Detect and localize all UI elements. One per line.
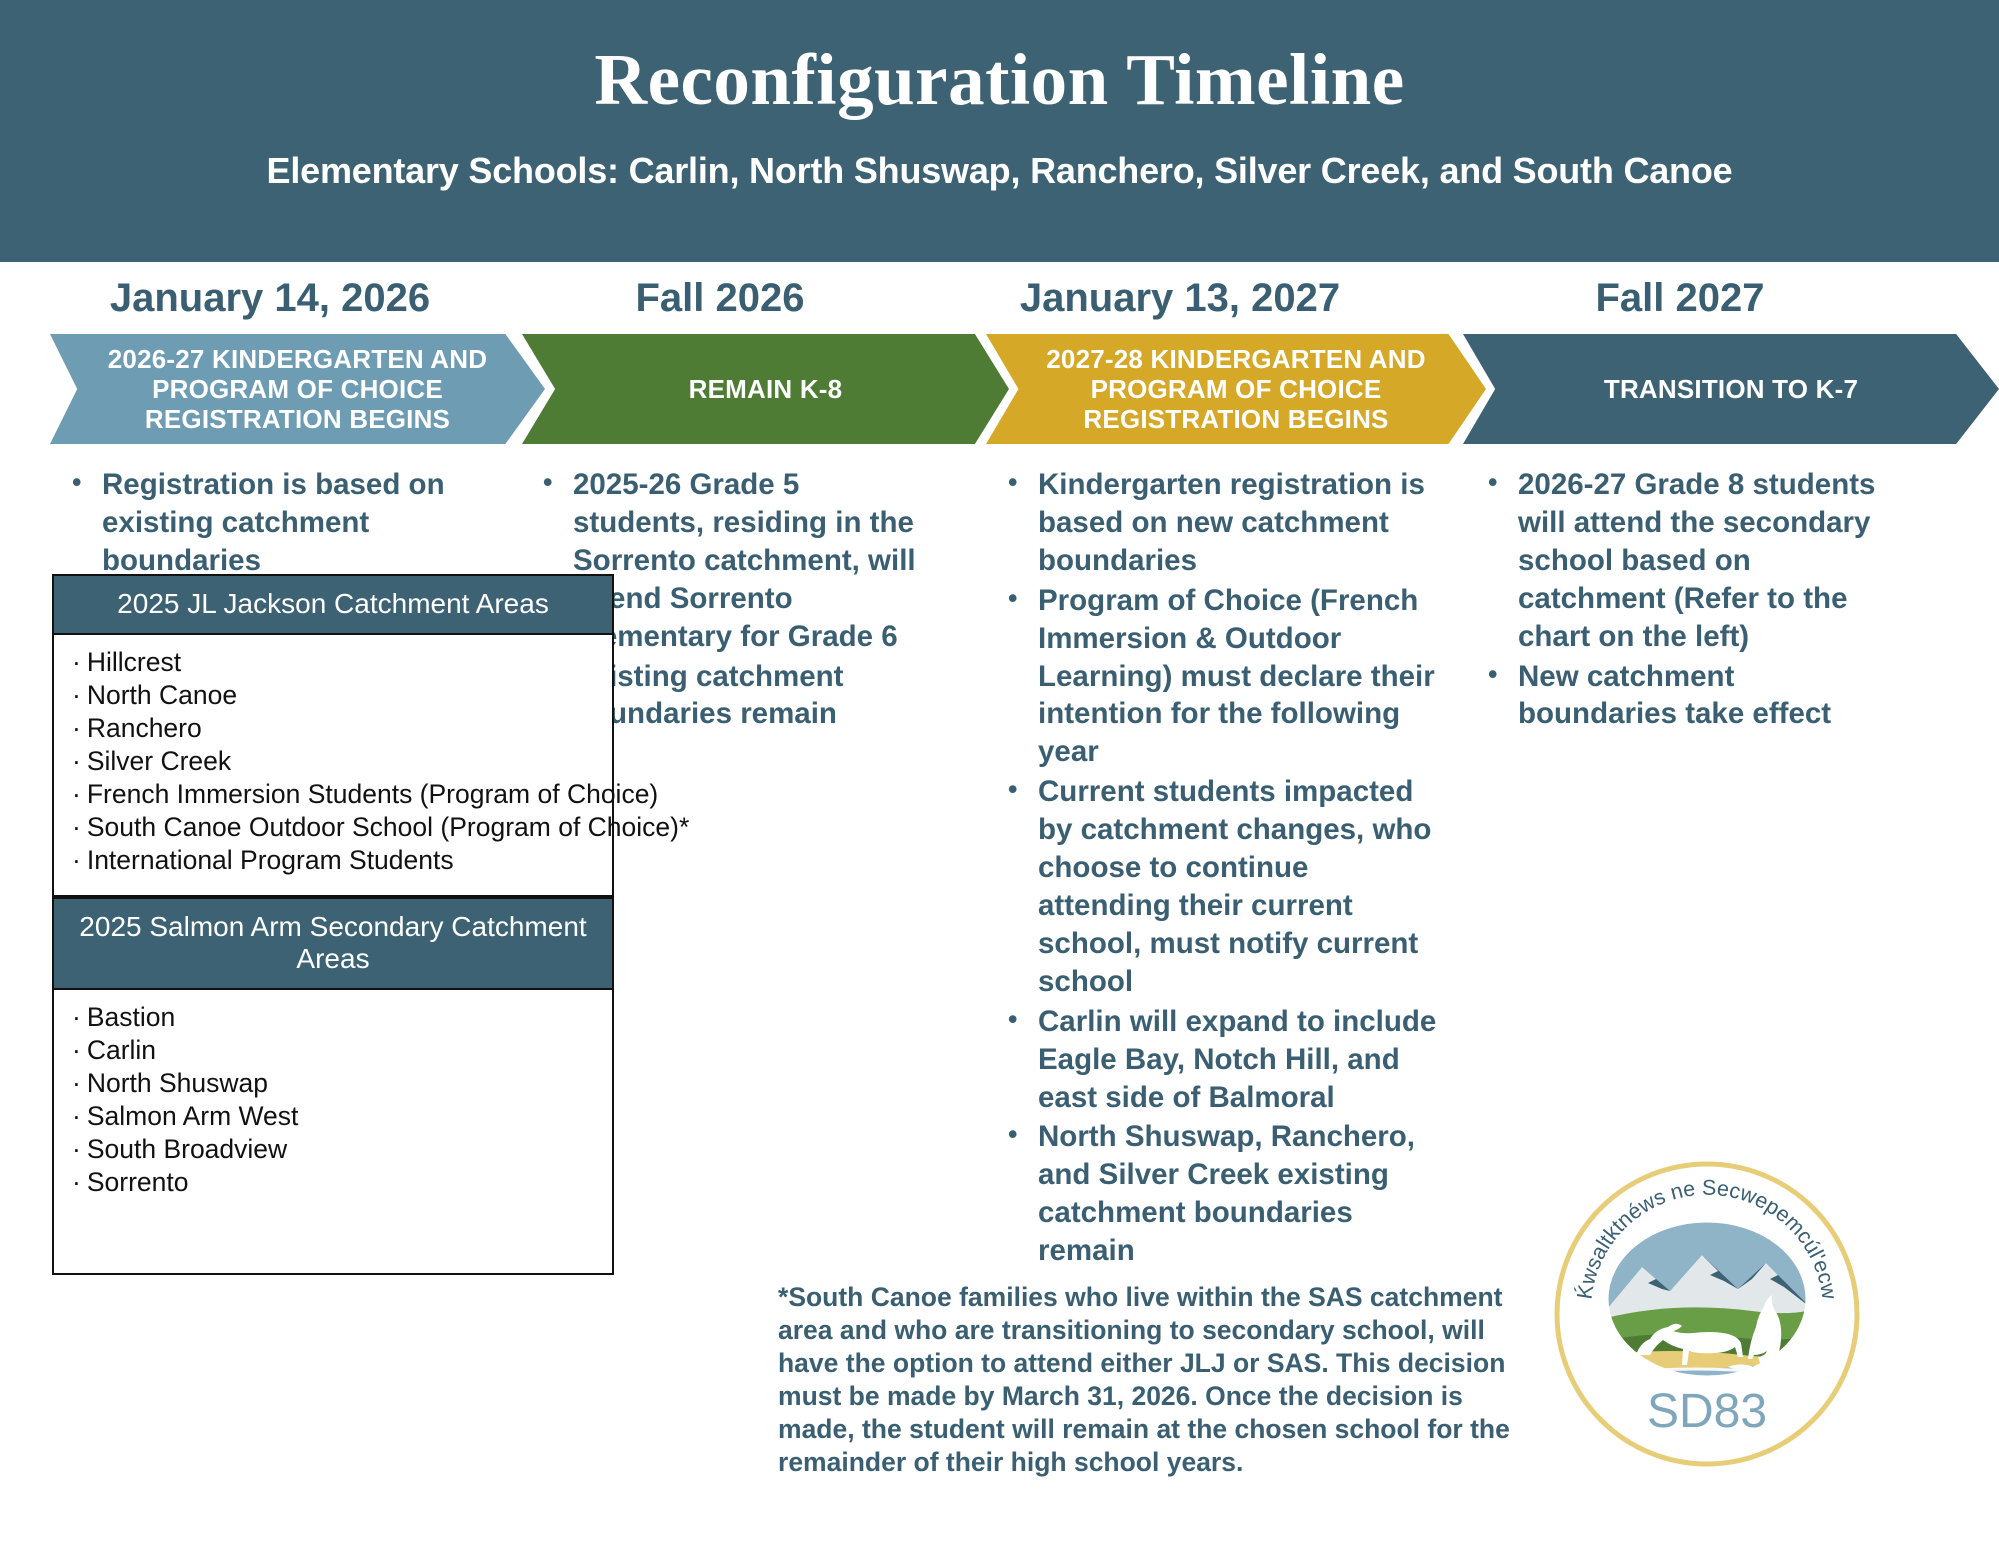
bullet-list-4: 2026-27 Grade 8 students will attend the… xyxy=(1480,466,1900,733)
timeline-chevron-4-label: TRANSITION TO K-7 xyxy=(1578,374,1884,404)
infographic-page: Reconfiguration Timeline Elementary Scho… xyxy=(0,0,1999,1545)
logo-acronym: SD83 xyxy=(1647,1385,1767,1438)
bullet-column-3: Kindergarten registration is based on ne… xyxy=(1000,466,1440,1272)
catchment-list-2: ·Bastion ·Carlin ·North Shuswap ·Salmon … xyxy=(54,1001,612,1199)
timeline-date-3: January 13, 2027 xyxy=(960,276,1400,321)
bullet-dot-icon: · xyxy=(72,746,81,776)
catchment-area-label: Silver Creek xyxy=(87,746,231,776)
catchment-area-label: Bastion xyxy=(87,1002,175,1032)
bullet-list-3: Kindergarten registration is based on ne… xyxy=(1000,466,1440,1270)
list-item: ·Carlin xyxy=(54,1034,612,1067)
bullet-dot-icon: · xyxy=(72,1002,81,1032)
page-title: Reconfiguration Timeline xyxy=(0,38,1999,122)
timeline-chevron-3-label: 2027-28 KINDERGARTEN AND PROGRAM OF CHOI… xyxy=(986,344,1486,434)
bullet-dot-icon: · xyxy=(72,680,81,710)
list-item: New catchment boundaries take effect xyxy=(1480,658,1900,734)
bullet-column-1: Registration is based on existing catchm… xyxy=(64,466,464,582)
list-item: Carlin will expand to include Eagle Bay,… xyxy=(1000,1003,1440,1117)
bullet-dot-icon: · xyxy=(72,1134,81,1164)
list-item: ·Bastion xyxy=(54,1001,612,1034)
list-item: ·Silver Creek xyxy=(54,745,612,778)
bullet-dot-icon: · xyxy=(72,1035,81,1065)
list-item: ·South Canoe Outdoor School (Program of … xyxy=(54,811,612,844)
list-item: ·Hillcrest xyxy=(54,646,612,679)
catchment-area-label: French Immersion Students (Program of Ch… xyxy=(87,779,658,809)
catchment-table-1-header: 2025 JL Jackson Catchment Areas xyxy=(52,574,614,635)
timeline-strip: January 14, 2026 Fall 2026 January 13, 2… xyxy=(0,262,1999,452)
catchment-area-label: North Shuswap xyxy=(87,1068,268,1098)
catchment-area-label: South Broadview xyxy=(87,1134,287,1164)
catchment-tables: 2025 JL Jackson Catchment Areas ·Hillcre… xyxy=(52,574,614,1275)
timeline-chevron-1[interactable]: 2026-27 KINDERGARTEN AND PROGRAM OF CHOI… xyxy=(50,334,545,444)
catchment-area-label: North Canoe xyxy=(87,680,237,710)
bullet-list-1: Registration is based on existing catchm… xyxy=(64,466,464,580)
list-item: 2026-27 Grade 8 students will attend the… xyxy=(1480,466,1900,656)
list-item: ·Ranchero xyxy=(54,712,612,745)
list-item: ·North Shuswap xyxy=(54,1067,612,1100)
list-item: Current students impacted by catchment c… xyxy=(1000,773,1440,1000)
timeline-date-1: January 14, 2026 xyxy=(50,276,490,321)
list-item: Registration is based on existing catchm… xyxy=(64,466,464,580)
list-item: Kindergarten registration is based on ne… xyxy=(1000,466,1440,580)
timeline-chevron-3[interactable]: 2027-28 KINDERGARTEN AND PROGRAM OF CHOI… xyxy=(986,334,1486,444)
bullet-dot-icon: · xyxy=(72,1101,81,1131)
catchment-area-label: International Program Students xyxy=(87,845,454,875)
catchment-area-label: Salmon Arm West xyxy=(87,1101,299,1131)
list-item: ·North Canoe xyxy=(54,679,612,712)
bullet-dot-icon: · xyxy=(72,812,81,842)
header-banner: Reconfiguration Timeline Elementary Scho… xyxy=(0,0,1999,262)
list-item: ·South Broadview xyxy=(54,1133,612,1166)
timeline-chevron-2[interactable]: REMAIN K-8 xyxy=(522,334,1009,444)
catchment-table-1-body: ·Hillcrest ·North Canoe ·Ranchero ·Silve… xyxy=(52,635,614,897)
bullet-dot-icon: · xyxy=(72,845,81,875)
catchment-list-1: ·Hillcrest ·North Canoe ·Ranchero ·Silve… xyxy=(54,646,612,877)
catchment-table-2-header: 2025 Salmon Arm Secondary Catchment Area… xyxy=(52,897,614,990)
timeline-chevron-2-label: REMAIN K-8 xyxy=(663,374,869,404)
list-item: ·French Immersion Students (Program of C… xyxy=(54,778,612,811)
list-item: ·Salmon Arm West xyxy=(54,1100,612,1133)
timeline-date-4: Fall 2027 xyxy=(1460,276,1900,321)
timeline-chevron-1-label: 2026-27 KINDERGARTEN AND PROGRAM OF CHOI… xyxy=(50,344,545,434)
catchment-area-label: Sorrento xyxy=(87,1167,189,1197)
catchment-area-label: Hillcrest xyxy=(87,647,181,677)
page-subtitle: Elementary Schools: Carlin, North Shuswa… xyxy=(0,150,1999,192)
catchment-area-label: Carlin xyxy=(87,1035,156,1065)
footnote-text: *South Canoe families who live within th… xyxy=(778,1281,1518,1479)
sd83-logo: Ḱwsaltktnéws ne Secwepemcúl'ecw SD83 xyxy=(1552,1159,1862,1469)
bullet-dot-icon: · xyxy=(72,1068,81,1098)
catchment-table-2-body: ·Bastion ·Carlin ·North Shuswap ·Salmon … xyxy=(52,990,614,1275)
catchment-area-label: Ranchero xyxy=(87,713,202,743)
list-item: ·Sorrento xyxy=(54,1166,612,1199)
timeline-date-2: Fall 2026 xyxy=(520,276,920,321)
list-item: ·International Program Students xyxy=(54,844,612,877)
bullet-dot-icon: · xyxy=(72,779,81,809)
bullet-dot-icon: · xyxy=(72,647,81,677)
bullet-dot-icon: · xyxy=(72,713,81,743)
bullet-dot-icon: · xyxy=(72,1167,81,1197)
list-item: North Shuswap, Ranchero, and Silver Cree… xyxy=(1000,1118,1440,1270)
bullet-column-4: 2026-27 Grade 8 students will attend the… xyxy=(1480,466,1900,735)
timeline-chevron-4[interactable]: TRANSITION TO K-7 xyxy=(1463,334,1999,444)
list-item: Program of Choice (French Immersion & Ou… xyxy=(1000,582,1440,772)
catchment-area-label: South Canoe Outdoor School (Program of C… xyxy=(87,812,689,842)
